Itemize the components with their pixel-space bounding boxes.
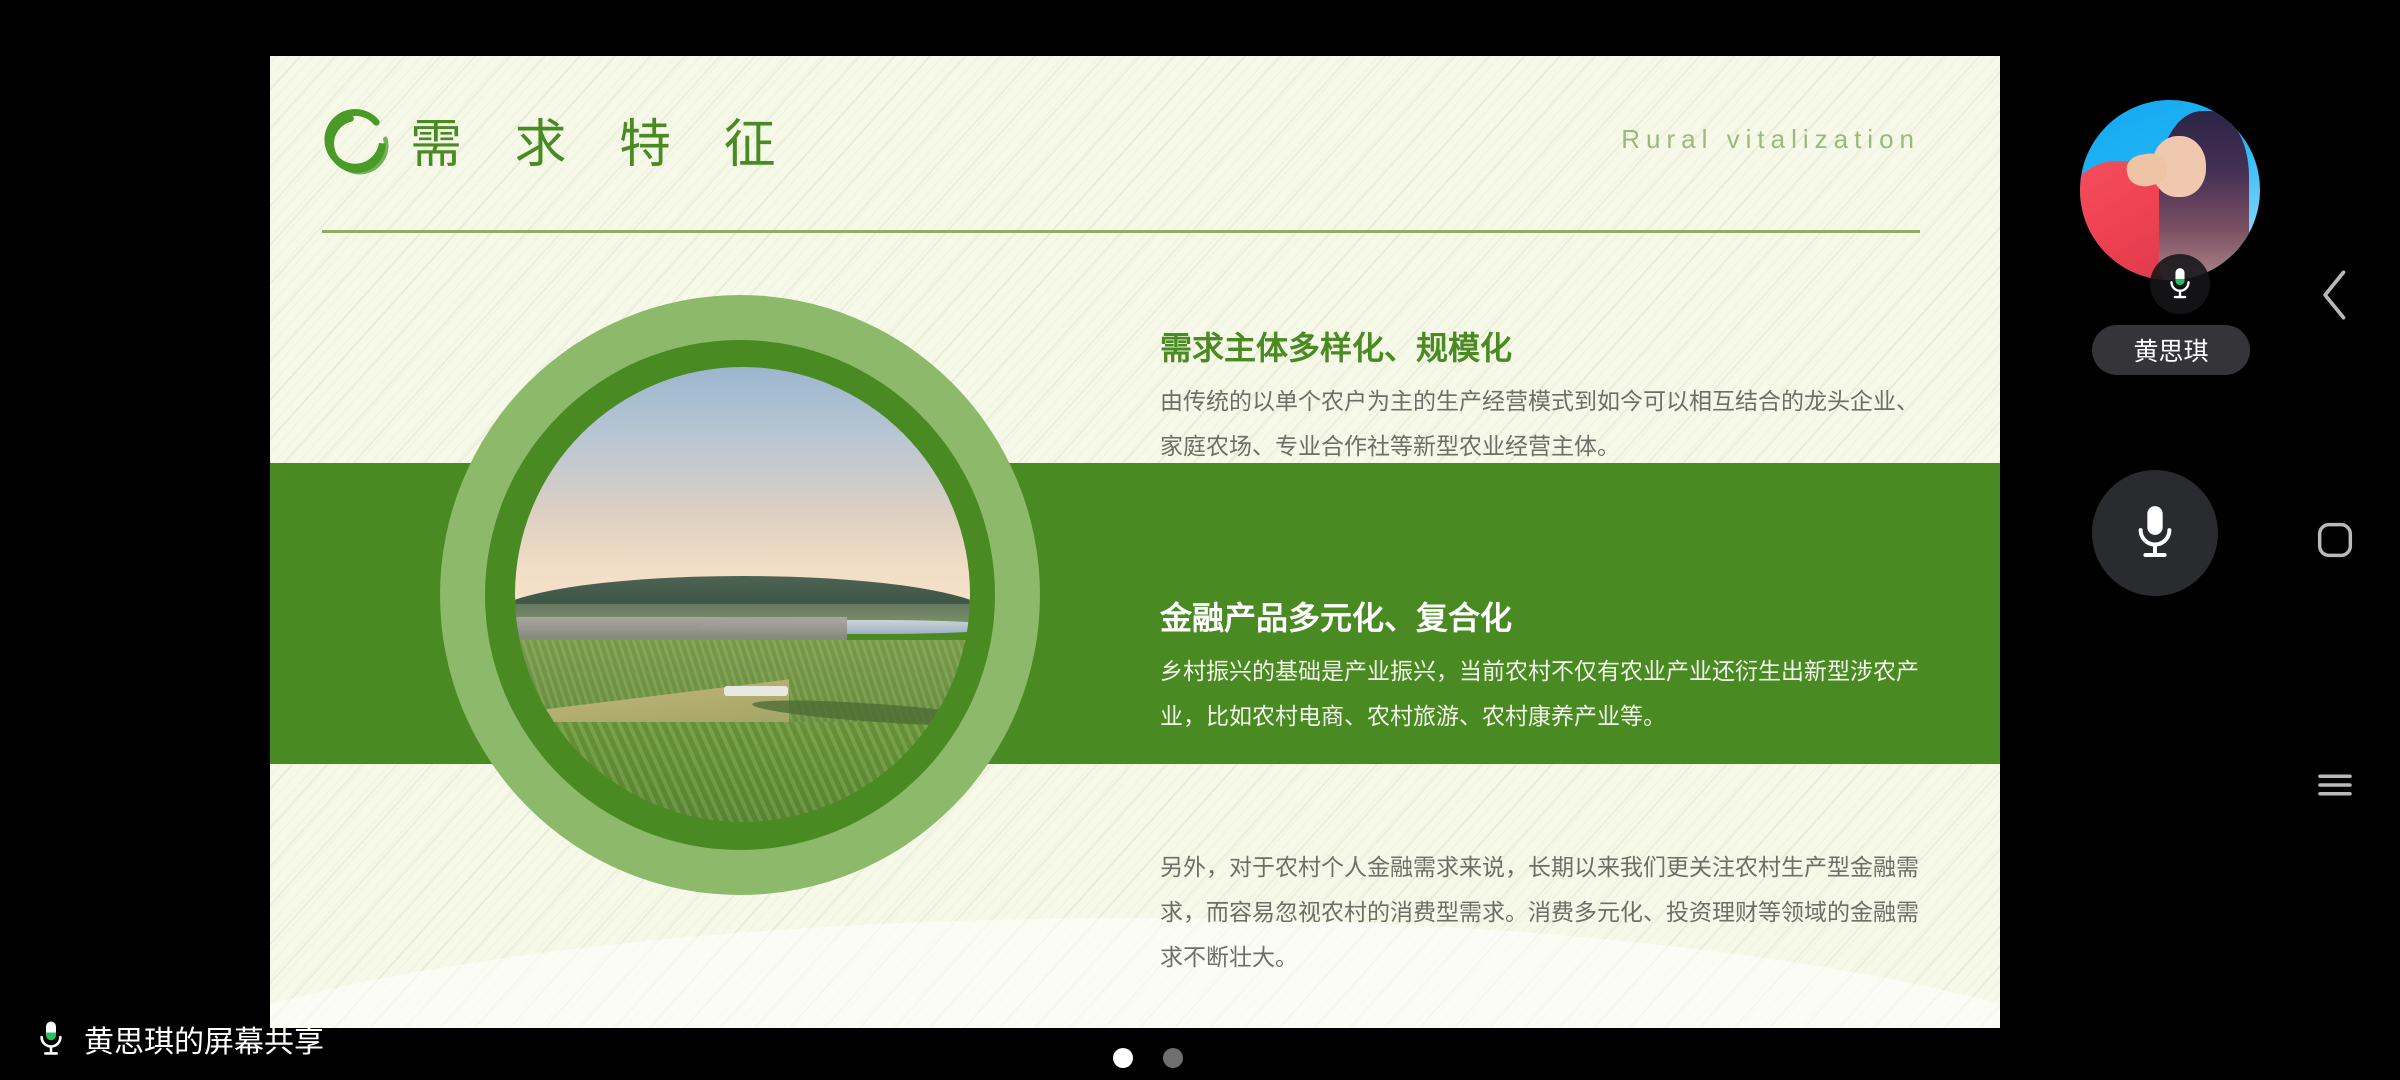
content-block-3: 另外，对于农村个人金融需求来说，长期以来我们更关注农村生产型金融需求，而容易忽视… [1160,846,1920,981]
screen-share-label: 黄思琪的屏幕共享 [84,1017,324,1061]
participant-name-label: 黄思琪 [2133,332,2208,368]
slide-header: 需 求 特 征 Rural vitalization [270,56,2000,236]
header-divider [322,230,1920,233]
countryside-farmland-photo [515,367,970,822]
photo-field-lower [515,722,970,822]
enso-circle-icon [320,104,396,180]
microphone-toggle-button[interactable] [2092,470,2218,596]
nav-recents-button[interactable] [2270,740,2400,830]
home-square-icon [2315,520,2355,560]
page-title-english: Rural vitalization [1621,124,1920,155]
menu-lines-icon [2314,770,2356,800]
participant-avatar[interactable] [2080,100,2260,280]
content-block-1-body: 由传统的以单个农户为主的生产经营模式到如今可以相互结合的龙头企业、家庭农场、专业… [1160,380,1920,470]
screen-share-status: 黄思琪的屏幕共享 [36,1014,324,1064]
content-block-1: 需求主体多样化、规模化 由传统的以单个农户为主的生产经营模式到如今可以相互结合的… [1160,326,1920,470]
microphone-icon [36,1019,66,1059]
chevron-left-icon [2318,268,2352,322]
participant-sidebar: 黄思琪 [2070,0,2270,1080]
participant-name-chip: 黄思琪 [2092,325,2250,375]
nav-home-button[interactable] [2270,495,2400,585]
content-block-2: 金融产品多元化、复合化 乡村振兴的基础是产业振兴，当前农村不仅有农业产业还衍生出… [1160,596,1920,740]
content-block-1-title: 需求主体多样化、规模化 [1160,326,1920,370]
content-block-3-body: 另外，对于农村个人金融需求来说，长期以来我们更关注农村生产型金融需求，而容易忽视… [1160,846,1920,981]
circular-photo-composition [440,295,1040,895]
photo-barn [724,686,788,697]
microphone-icon [2166,267,2194,301]
content-block-2-title: 金融产品多元化、复合化 [1160,596,1920,640]
photo-sky [515,367,970,604]
nav-back-button[interactable] [2270,250,2400,340]
microphone-icon [2132,504,2178,562]
page-indicator-dots[interactable] [1113,1048,1183,1068]
shared-screen-slide: 需 求 特 征 Rural vitalization 需求主体多样化、规模化 由… [270,56,2000,1028]
microphone-status-badge [2150,254,2210,314]
page-dot-1[interactable] [1113,1048,1133,1068]
content-block-2-body: 乡村振兴的基础是产业振兴，当前农村不仅有农业产业还衍生出新型涉农产业，比如农村电… [1160,650,1920,740]
android-navigation-bar [2270,0,2400,1080]
page-dot-2[interactable] [1163,1048,1183,1068]
page-title: 需 求 特 征 [410,114,794,176]
